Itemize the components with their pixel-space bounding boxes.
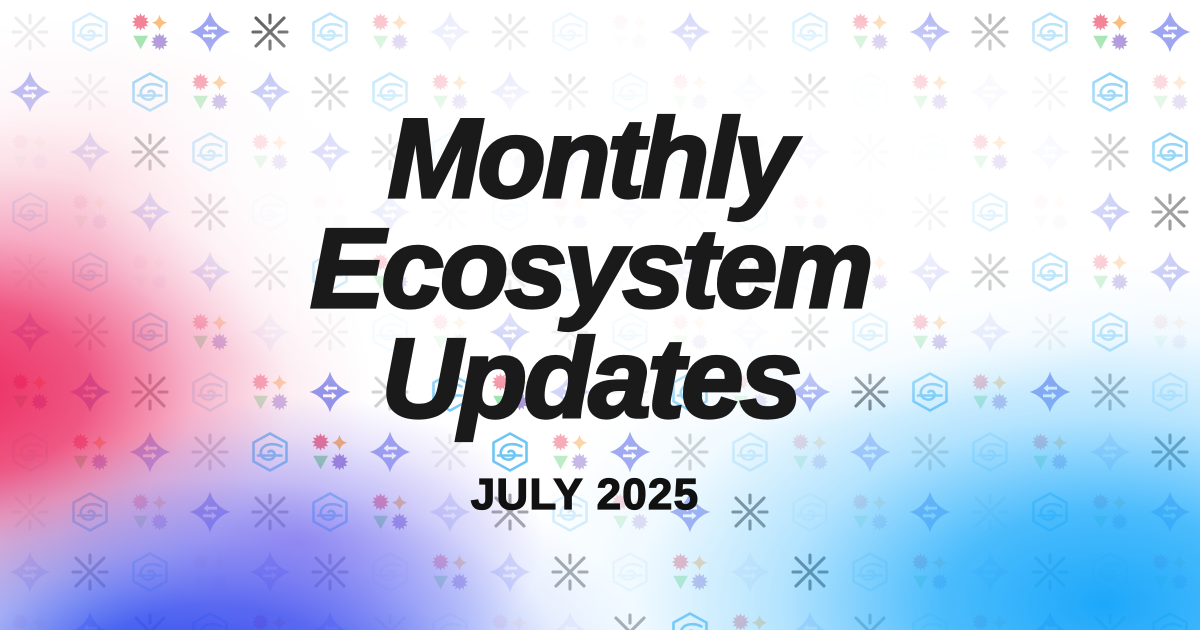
monthly-ecosystem-updates-banner: Monthly Ecosystem Updates JULY 2025 [0, 0, 1200, 630]
headline-line-3: Updates [0, 324, 1180, 434]
banner-headline: Monthly Ecosystem Updates [0, 104, 1200, 433]
headline-line-1: Monthly [0, 104, 1180, 214]
headline-line-2: Ecosystem [0, 214, 1180, 324]
banner-text-layer: Monthly Ecosystem Updates JULY 2025 [0, 0, 1200, 630]
banner-subtitle-date: JULY 2025 [0, 470, 1200, 520]
